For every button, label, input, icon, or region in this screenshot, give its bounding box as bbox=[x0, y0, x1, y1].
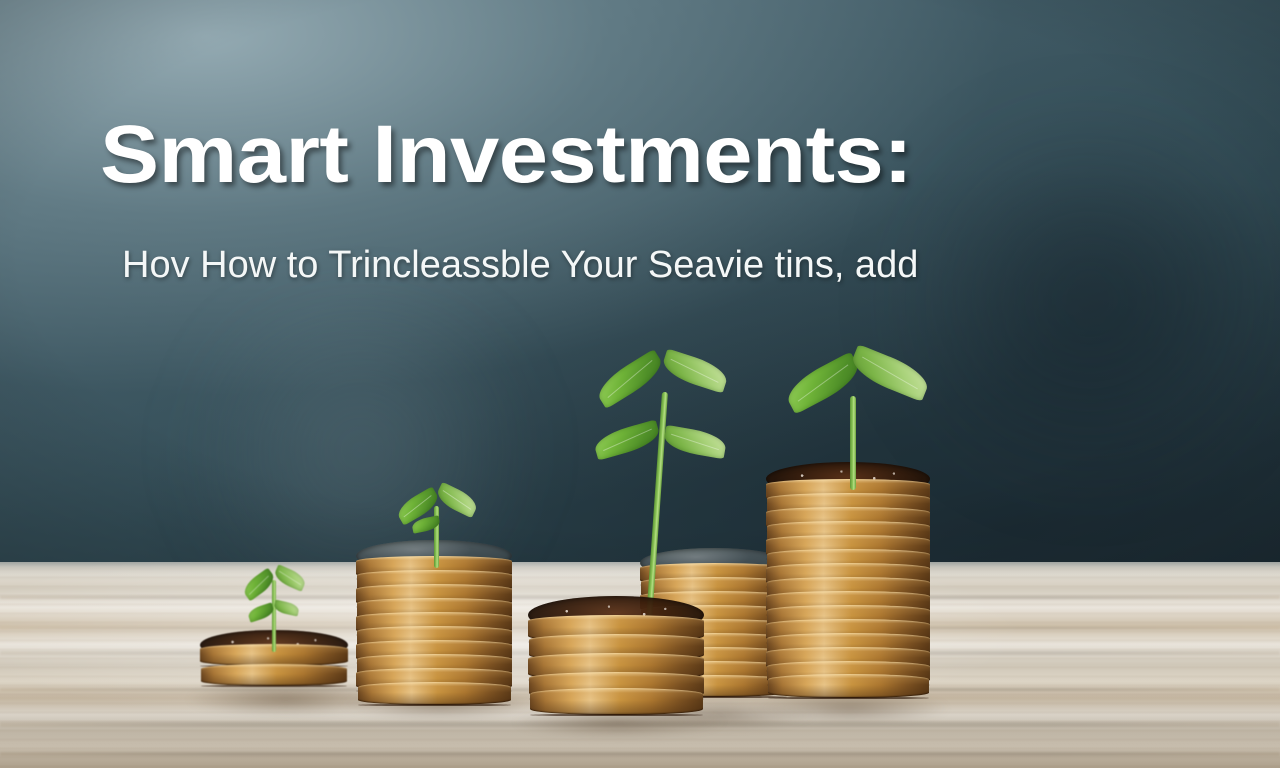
leaf-vein bbox=[249, 575, 269, 595]
coin bbox=[530, 688, 703, 715]
leaf-vein bbox=[862, 357, 918, 390]
leaf bbox=[273, 600, 300, 617]
coin-stack-3 bbox=[528, 596, 704, 718]
wood-grain-line bbox=[0, 752, 1280, 756]
leaf-vein bbox=[443, 490, 471, 510]
leaf-vein bbox=[671, 434, 718, 450]
coin bbox=[768, 674, 929, 698]
leaf bbox=[660, 348, 731, 393]
banner-image: Smart Investments: Hov How to Trincleass… bbox=[0, 0, 1280, 768]
leaf bbox=[662, 425, 727, 459]
page-title: Smart Investments: bbox=[100, 112, 1280, 198]
coin bbox=[358, 682, 511, 705]
leaf-vein bbox=[404, 495, 432, 517]
plant-stem bbox=[850, 396, 856, 490]
leaf-vein bbox=[608, 360, 653, 398]
plant-stack-2 bbox=[390, 484, 500, 564]
leaf-vein bbox=[603, 429, 652, 451]
coin-stack-5 bbox=[766, 462, 930, 714]
plant-stem bbox=[272, 580, 276, 652]
plant-stack-5 bbox=[780, 352, 940, 482]
leaf bbox=[847, 344, 932, 402]
leaf-vein bbox=[797, 364, 848, 401]
leaf bbox=[434, 482, 481, 518]
plant-stack-3-tall bbox=[566, 352, 756, 622]
coin bbox=[201, 664, 347, 686]
leaf-vein bbox=[671, 359, 719, 383]
leaf bbox=[593, 349, 668, 409]
plant-stack-1 bbox=[238, 562, 328, 648]
leaf-vein bbox=[279, 571, 301, 585]
leaf bbox=[272, 564, 308, 592]
leaf bbox=[592, 419, 662, 460]
page-subtitle: Hov How to Trincleassble Your Seavie tin… bbox=[122, 243, 1222, 289]
